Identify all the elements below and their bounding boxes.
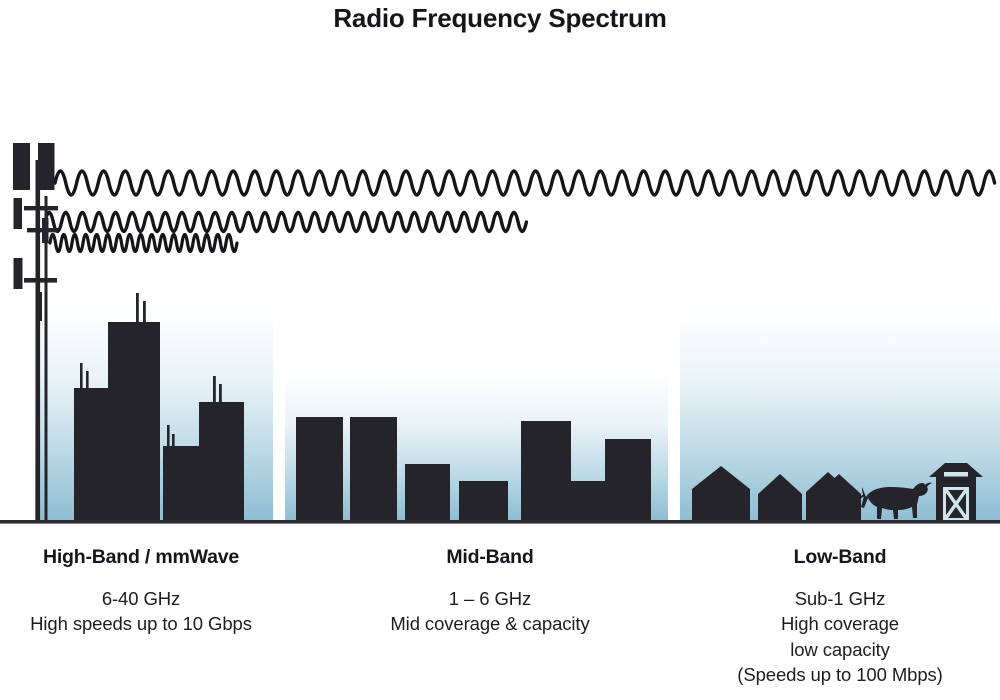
band-name-high-band: High-Band / mmWave	[0, 548, 282, 568]
tower-mast-right	[45, 196, 48, 521]
band-frequency-high-band: 6-40 GHz	[0, 590, 282, 609]
barn	[929, 463, 983, 521]
band-caption-high-band: High-Band / mmWave 6-40 GHz High speeds …	[0, 548, 282, 641]
band-name-low-band: Low-Band	[680, 548, 1000, 568]
tower-brace-upper	[24, 206, 58, 210]
band-caption-mid-band: Mid-Band 1 – 6 GHz Mid coverage & capaci…	[330, 548, 650, 641]
tower-antenna-panel-6	[38, 292, 42, 321]
tower-brace-lower	[24, 278, 57, 283]
infographic-root: Radio Frequency Spectrum	[0, 0, 1000, 700]
band-description-high-band: High speeds up to 10 Gbps	[0, 615, 282, 634]
tower-antenna-panel-2	[38, 143, 55, 190]
tower-antenna-panel-3	[14, 198, 23, 229]
tower-antenna-panel-4	[42, 218, 49, 243]
ground-baseline	[0, 520, 1000, 524]
band-caption-low-band: Low-Band Sub-1 GHz High coverage low cap…	[680, 548, 1000, 692]
band-speed-low-band: (Speeds up to 100 Mbps)	[680, 666, 1000, 685]
band-coverage-low-band: High coverage	[680, 615, 1000, 634]
tower-mast-left	[36, 160, 41, 521]
tower-antenna-panel-1	[13, 143, 30, 190]
band-frequency-low-band: Sub-1 GHz	[680, 590, 1000, 609]
band-frequency-mid-band: 1 – 6 GHz	[330, 590, 650, 609]
wave-high-band	[50, 235, 237, 252]
tower-antenna-panel-5	[14, 258, 23, 289]
band-description-mid-band: Mid coverage & capacity	[330, 615, 650, 634]
wave-mid-band	[45, 213, 526, 232]
band-capacity-low-band: low capacity	[680, 641, 1000, 660]
band-name-mid-band: Mid-Band	[330, 548, 650, 568]
wave-low-band	[55, 171, 995, 195]
